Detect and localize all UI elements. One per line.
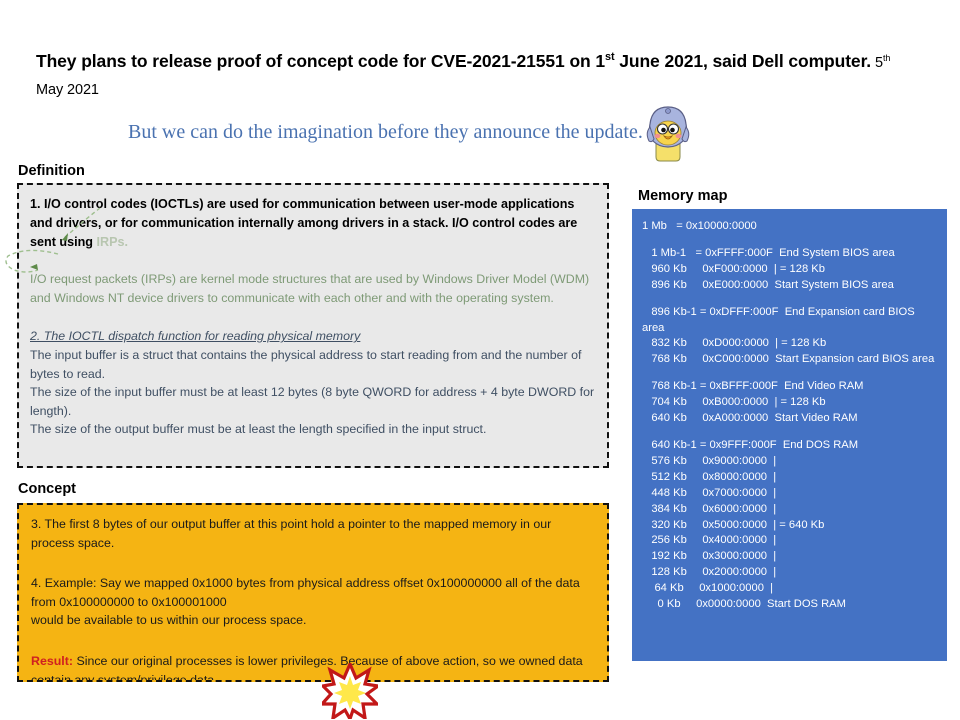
result-text: Since our original processes is lower pr…: [31, 654, 583, 682]
memory-map-row: 512 Kb 0x8000:0000 |: [642, 470, 939, 486]
memory-map-row: 192 Kb 0x3000:0000 |: [642, 549, 939, 565]
memory-map-row: 896 Kb-1 = 0xDFFF:000F End Expansion car…: [642, 305, 939, 337]
title-text-part1: They plans to release proof of concept c…: [36, 51, 605, 71]
concept-paragraph-3: 3. The first 8 bytes of our output buffe…: [31, 515, 595, 552]
memory-map-spacer: [642, 427, 939, 438]
definition-paragraph-1: 1. I/O control codes (IOCTLs) are used f…: [30, 195, 596, 252]
irps-link[interactable]: IRPs.: [96, 235, 128, 249]
memory-map-row: 1 Mb = 0x10000:0000: [642, 219, 939, 235]
definition-heading: Definition: [18, 163, 85, 179]
subtitle-row: But we can do the imagination before the…: [128, 120, 928, 163]
concept-result-paragraph: Result: Since our original processes is …: [31, 652, 595, 682]
memory-map-row: 960 Kb 0xF000:0000 | = 128 Kb: [642, 262, 939, 278]
subtitle-text: But we can do the imagination before the…: [128, 120, 643, 144]
memory-map-row: 64 Kb 0x1000:0000 |: [642, 581, 939, 597]
memory-map-row: 832 Kb 0xD000:0000 | = 128 Kb: [642, 336, 939, 352]
definition-paragraph-3-line2: The size of the input buffer must be at …: [30, 383, 596, 420]
title-text-part2: June 2021, said Dell computer.: [614, 51, 871, 71]
result-label: Result:: [31, 654, 73, 668]
memory-map-row: 640 Kb-1 = 0x9FFF:000F End DOS RAM: [642, 438, 939, 454]
memory-map-row: 896 Kb 0xE000:0000 Start System BIOS are…: [642, 278, 939, 294]
title-block: They plans to release proof of concept c…: [36, 48, 916, 102]
explosion-starburst-icon: [322, 663, 378, 719]
memory-map-row: 704 Kb 0xB000:0000 | = 128 Kb: [642, 395, 939, 411]
definition-paragraph-3-line1: The input buffer is a struct that contai…: [30, 346, 596, 383]
memory-map-row: 448 Kb 0x7000:0000 |: [642, 486, 939, 502]
definition-box: 1. I/O control codes (IOCTLs) are used f…: [17, 183, 609, 468]
memory-map-spacer: [642, 294, 939, 305]
memory-map-spacer: [642, 368, 939, 379]
memory-map-row: 320 Kb 0x5000:0000 | = 640 Kb: [642, 518, 939, 534]
memory-map-row: 768 Kb 0xC000:0000 Start Expansion card …: [642, 352, 939, 368]
concept-paragraph-4-line2: would be available to us within our proc…: [31, 611, 595, 630]
memory-map-row: 768 Kb-1 = 0xBFFF:000F End Video RAM: [642, 379, 939, 395]
definition-paragraph-2: I/O request packets (IRPs) are kernel mo…: [30, 270, 596, 308]
memory-map-lines: 1 Mb = 0x10000:0000 1 Mb-1 = 0xFFFF:000F…: [642, 219, 939, 613]
concept-paragraph-4-line1: 4. Example: Say we mapped 0x1000 bytes f…: [31, 574, 595, 611]
concept-heading: Concept: [18, 481, 76, 497]
page-title: They plans to release proof of concept c…: [36, 48, 916, 102]
definition-subheading-2: 2. The IOCTL dispatch function for readi…: [30, 327, 596, 346]
memory-map-row: 384 Kb 0x6000:0000 |: [642, 502, 939, 518]
memory-map-row: 640 Kb 0xA000:0000 Start Video RAM: [642, 411, 939, 427]
memory-map-box: 1 Mb = 0x10000:0000 1 Mb-1 = 0xFFFF:000F…: [632, 209, 947, 661]
memory-map-row: 576 Kb 0x9000:0000 |: [642, 454, 939, 470]
memory-map-row: 128 Kb 0x2000:0000 |: [642, 565, 939, 581]
chick-mascot-icon: [645, 105, 691, 163]
date-ordinal-suffix: th: [883, 53, 890, 63]
memory-map-row: 256 Kb 0x4000:0000 |: [642, 533, 939, 549]
memory-map-row: 0 Kb 0x0000:0000 Start DOS RAM: [642, 597, 939, 613]
memory-map-row: 1 Mb-1 = 0xFFFF:000F End System BIOS are…: [642, 246, 939, 262]
date-suffix: May 2021: [36, 82, 99, 98]
concept-box: 3. The first 8 bytes of our output buffe…: [17, 503, 609, 682]
memory-map-heading: Memory map: [638, 188, 727, 204]
memory-map-spacer: [642, 235, 939, 246]
date-prefix: 5: [871, 55, 883, 71]
definition-paragraph-3-line3: The size of the output buffer must be at…: [30, 420, 596, 439]
